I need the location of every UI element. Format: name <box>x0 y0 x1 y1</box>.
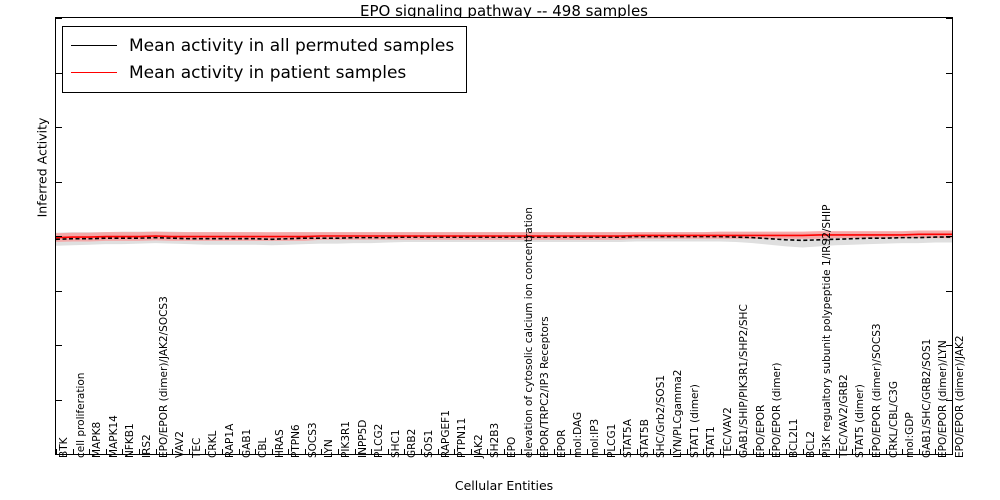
x-tick-mark <box>355 449 356 454</box>
y-tick-mark <box>946 291 952 292</box>
y-tick-mark <box>946 18 952 19</box>
x-category-label: BTK <box>59 437 70 458</box>
x-category-label: RAPGEF1 <box>441 410 452 458</box>
x-tick-mark <box>338 449 339 454</box>
x-tick-mark <box>189 449 190 454</box>
legend-entry: Mean activity in patient samples <box>71 59 454 86</box>
x-tick-mark <box>222 449 223 454</box>
x-category-label: SHC1 <box>391 429 402 458</box>
y-tick-mark <box>56 345 62 346</box>
x-tick-mark <box>869 449 870 454</box>
y-tick-mark <box>946 127 952 128</box>
x-category-label: EPO/EPOR (dimer) <box>772 363 783 458</box>
x-tick-mark <box>56 449 57 454</box>
chart-figure: EPO signaling pathway -- 498 samples Inf… <box>0 0 1000 500</box>
x-category-label: STAT1 <box>706 426 717 458</box>
x-category-label: elevation of cytosolic calcium ion conce… <box>524 207 535 458</box>
x-category-label: INPP5D <box>358 420 369 458</box>
x-tick-mark <box>587 449 588 454</box>
x-category-label: EPOR <box>557 429 568 458</box>
x-category-label: PTPN11 <box>457 418 468 458</box>
x-category-label: PTPN6 <box>291 424 302 458</box>
x-category-label: BCL2 <box>806 431 817 458</box>
x-category-label: VAV2 <box>175 431 186 458</box>
y-tick-mark <box>56 236 62 237</box>
legend-label-permuted: Mean activity in all permuted samples <box>129 36 454 56</box>
y-tick-mark <box>56 400 62 401</box>
x-tick-mark <box>421 449 422 454</box>
x-category-label: EPO/EPOR <box>756 405 767 458</box>
x-tick-mark <box>172 449 173 454</box>
x-tick-mark <box>73 449 74 454</box>
x-category-label: mol:DAG <box>573 412 584 458</box>
legend-swatch-permuted <box>71 45 117 46</box>
x-category-label: HRAS <box>275 429 286 458</box>
x-tick-mark <box>836 449 837 454</box>
legend-entry: Mean activity in all permuted samples <box>71 32 454 59</box>
x-tick-mark <box>620 449 621 454</box>
x-category-label: STAT5B <box>640 419 651 458</box>
x-tick-mark <box>919 449 920 454</box>
x-category-label: SH2B3 <box>490 423 501 458</box>
x-category-label: STAT5A <box>623 419 634 458</box>
x-category-label: TEC/VAV2 <box>723 407 734 458</box>
x-category-label: TEC/VAV2/GRB2 <box>839 374 850 458</box>
x-category-label: SOCS3 <box>308 422 319 458</box>
x-category-label: MAPK14 <box>109 415 120 458</box>
x-category-label: EPO/EPOR (dimer)/JAK2/SOCS3 <box>159 296 170 458</box>
x-category-label: SOS1 <box>424 430 435 458</box>
y-tick-mark <box>56 18 62 19</box>
x-category-label: CRKL <box>208 431 219 458</box>
x-category-label: mol:GDP <box>905 412 916 458</box>
y-axis-title: Inferred Activity <box>35 88 50 248</box>
x-tick-mark <box>272 449 273 454</box>
x-category-label: CRKL/CBL/C3G <box>889 381 900 458</box>
x-category-label: GAB1/SHIP/PIK3R1/SHP2/SHC <box>739 304 750 458</box>
x-category-label: PI3K regualtory subunit polypeptide 1/IR… <box>822 205 833 458</box>
x-category-label: LYN <box>324 439 335 458</box>
x-tick-mark <box>156 449 157 454</box>
x-category-label: mol:IP3 <box>590 419 601 458</box>
x-category-label: BCL2L1 <box>789 419 800 458</box>
x-category-label: STAT1 (dimer) <box>690 384 701 458</box>
x-category-label: NFKB1 <box>125 423 136 458</box>
x-tick-mark <box>753 449 754 454</box>
x-tick-mark <box>388 449 389 454</box>
x-category-label: GAB1/SHC/GRB2/SOS1 <box>922 339 933 458</box>
y-tick-mark <box>56 182 62 183</box>
x-tick-mark <box>786 449 787 454</box>
x-tick-mark <box>604 449 605 454</box>
y-tick-mark <box>946 73 952 74</box>
x-tick-mark <box>554 449 555 454</box>
x-category-label: cell proliferation <box>76 373 87 458</box>
x-tick-mark <box>255 449 256 454</box>
x-category-label: MAPK8 <box>92 422 103 458</box>
x-tick-mark <box>803 449 804 454</box>
chart-legend: Mean activity in all permuted samples Me… <box>62 26 467 93</box>
x-tick-mark <box>670 449 671 454</box>
x-tick-mark <box>471 449 472 454</box>
x-tick-mark <box>637 449 638 454</box>
legend-swatch-patient <box>71 72 117 73</box>
y-tick-mark <box>946 182 952 183</box>
x-category-label: SHC/Grb2/SOS1 <box>656 375 667 458</box>
x-category-label: EPO/EPOR (dimer)/SOCS3 <box>872 323 883 458</box>
x-category-label: JAK2 <box>474 434 485 458</box>
x-category-label: PLCG1 <box>607 424 618 458</box>
x-tick-mark <box>952 449 953 454</box>
x-tick-mark <box>139 449 140 454</box>
x-category-label: TEC <box>192 438 203 458</box>
x-tick-mark <box>886 449 887 454</box>
y-tick-mark <box>946 236 952 237</box>
x-category-label: EPO/EPOR (dimer)/LYN <box>938 340 949 458</box>
x-tick-mark <box>438 449 439 454</box>
x-category-label: EPO/EPOR (dimer)/JAK2 <box>955 335 966 458</box>
x-tick-mark <box>521 449 522 454</box>
x-category-label: STAT5 (dimer) <box>855 384 866 458</box>
x-category-label: EPO <box>507 437 518 458</box>
x-category-label: GAB1 <box>242 429 253 458</box>
y-tick-mark <box>56 127 62 128</box>
x-category-label: LYN/PLCgamma2 <box>673 370 684 458</box>
x-tick-mark <box>703 449 704 454</box>
x-category-label: RAP1A <box>225 424 236 458</box>
x-tick-mark <box>504 449 505 454</box>
x-category-label: PLCG2 <box>374 424 385 458</box>
legend-label-patient: Mean activity in patient samples <box>129 63 406 83</box>
x-category-label: IRS2 <box>142 434 153 458</box>
x-category-label: GRB2 <box>407 429 418 458</box>
x-category-label: CBL <box>258 438 269 458</box>
x-axis-title: Cellular Entities <box>55 478 953 493</box>
x-tick-mark <box>687 449 688 454</box>
x-tick-mark <box>305 449 306 454</box>
x-tick-mark <box>720 449 721 454</box>
x-category-label: EPOR/TRPC2/IP3 Receptors <box>540 316 551 458</box>
y-tick-mark <box>56 291 62 292</box>
x-tick-mark <box>106 449 107 454</box>
x-tick-mark <box>239 449 240 454</box>
x-category-label: PIK3R1 <box>341 421 352 458</box>
